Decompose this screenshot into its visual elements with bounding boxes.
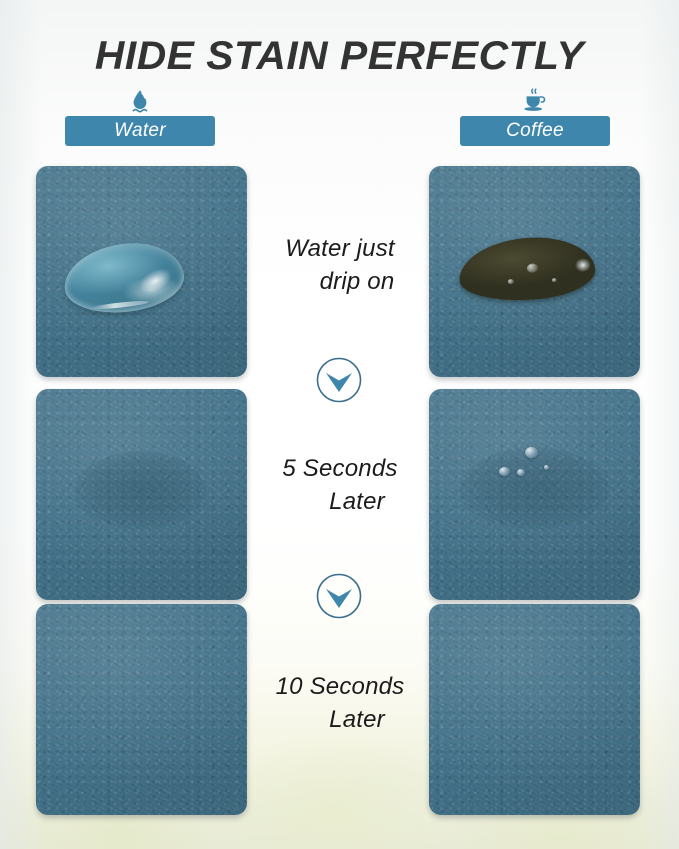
coffee-puddle-highlight — [574, 258, 591, 273]
chevron-down-icon — [315, 572, 363, 620]
step-caption-2-line2: Later — [240, 485, 440, 518]
infographic-stage: HIDE STAIN PERFECTLY Water Coffee — [0, 0, 679, 849]
coffee-bubble — [527, 263, 539, 273]
panel-water-step-3 — [36, 604, 247, 815]
panel-coffee-step-2 — [429, 389, 640, 600]
coffee-cup-icon — [460, 88, 610, 114]
chevron-down-icon — [315, 356, 363, 404]
step-caption-3-line2: Later — [240, 703, 440, 736]
coffee-bubble — [552, 278, 557, 282]
panel-lighting — [36, 604, 247, 815]
panel-water-step-1 — [36, 166, 247, 377]
column-label-coffee[interactable]: Coffee — [460, 116, 610, 146]
residual-droplet — [525, 447, 538, 458]
step-caption-2: 5 Seconds Later — [240, 452, 440, 518]
residual-droplet — [517, 469, 525, 476]
step-caption-1-line1: Water just — [285, 235, 395, 262]
damp-patch — [459, 447, 609, 529]
coffee-bubble — [508, 279, 514, 284]
panel-coffee-step-1 — [429, 166, 640, 377]
damp-patch — [74, 451, 206, 529]
step-caption-1: Water just drip on — [240, 232, 440, 298]
residual-droplet — [499, 467, 510, 476]
panel-coffee-step-3 — [429, 604, 640, 815]
panel-water-step-2 — [36, 389, 247, 600]
step-caption-3: 10 Seconds Later — [240, 670, 440, 736]
step-caption-3-line1: 10 Seconds — [276, 673, 405, 700]
water-drop-icon — [65, 88, 215, 114]
step-caption-2-line1: 5 Seconds — [282, 455, 397, 482]
column-header-coffee: Coffee — [460, 88, 610, 146]
residual-droplet — [544, 465, 549, 470]
step-caption-1-line2: drip on — [240, 265, 440, 298]
water-bead-highlight — [136, 264, 175, 298]
column-header-water: Water — [65, 88, 215, 146]
panel-lighting — [429, 604, 640, 815]
water-bead-rim — [91, 300, 149, 311]
column-label-water[interactable]: Water — [65, 116, 215, 146]
page-title: HIDE STAIN PERFECTLY — [0, 33, 679, 79]
